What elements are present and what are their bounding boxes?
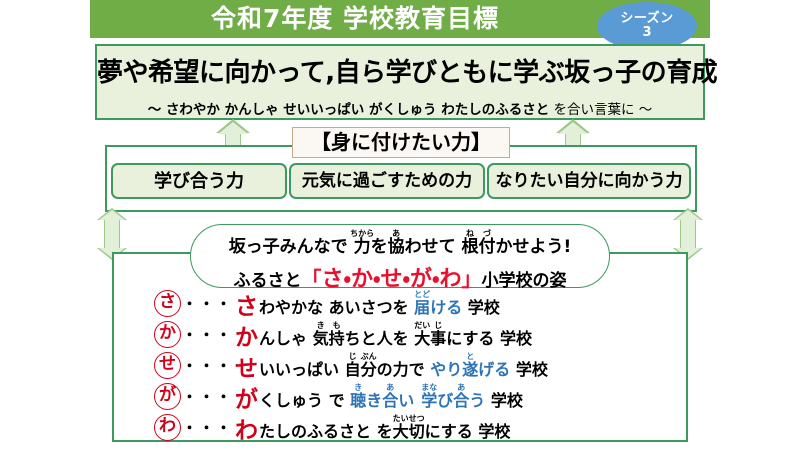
ruby-mana: 学まな	[421, 391, 437, 410]
page-title: 令和7年度 学校教育目標	[90, 2, 620, 38]
ruby-ai2: 合あ	[453, 391, 469, 410]
acronym-circle-ka: か	[154, 321, 181, 348]
slogan-l1-b: を	[371, 237, 388, 257]
ruby-dai: 大だい	[414, 329, 430, 348]
slogan-l1-c: わせて	[405, 237, 462, 257]
skills-chip-row: 学び合う力 元気に過ごすための力 なりたい自分に向かう力	[105, 163, 697, 199]
ruby-kiki: 聴き	[350, 391, 366, 410]
acronym-dots-sa: ・・・	[182, 293, 233, 314]
ruby-ai1: 合あ	[382, 391, 398, 410]
acronym-row-sa: さ ・・・ さ わやかな あいさつを 届とどける 学校	[120, 288, 680, 319]
acronym-list: さ ・・・ さ わやかな あいさつを 届とどける 学校 か ・・・ か んしゃ …	[120, 288, 680, 443]
slogan-l1-e: かせよう!	[496, 237, 572, 257]
skill-chip-stay-healthy: 元気に過ごすための力	[289, 163, 485, 199]
acronym-dots-ga: ・・・	[182, 386, 233, 407]
acronym-dots-wa: ・・・	[182, 417, 233, 438]
acronym-row-wa: わ ・・・ わ たしのふるさと を大切たいせつにする 学校	[120, 412, 680, 443]
season-badge-number: 3	[642, 26, 651, 40]
slogan-ruby-ne: 根ね	[462, 237, 479, 257]
acronym-initial-se: せ	[235, 349, 258, 383]
skills-panel-label: 【身に付けたい力】	[292, 127, 510, 158]
school-goal-sub-text: 〜 さわやか かんしゃ せいいっぱい がくしゅう わたしのふるさと を合い言葉に…	[97, 98, 703, 118]
acronym-text-wa: たしのふるさと を大切たいせつにする 学校	[259, 414, 510, 442]
acronym-text-sa: わやかな あいさつを 届とどける 学校	[259, 290, 500, 318]
school-goal-box: 夢や希望に向かって,自ら学びともに学ぶ坂っ子の育成 〜 さわやか かんしゃ せい…	[95, 44, 705, 120]
acronym-row-ga: が ・・・ が くしゅう で 聴きき合あい学まなび合あう 学校	[120, 381, 680, 412]
acronym-circle-ga: が	[154, 383, 181, 410]
acronym-row-ka: か ・・・ か んしゃ 気き持もちと人を 大だい事じにする 学校	[120, 319, 680, 350]
ruby-ki: 気き	[313, 329, 329, 348]
skill-chip-become-self: なりたい自分に向かう力	[487, 163, 691, 199]
ruby-taisetsu: 大切たいせつ	[393, 422, 425, 441]
acronym-initial-sa: さ	[235, 287, 258, 321]
season-badge: シーズン 3	[597, 2, 697, 50]
acronym-initial-wa: わ	[235, 411, 258, 445]
acronym-dots-se: ・・・	[182, 355, 233, 376]
slogan-bubble: 坂っ子みんなで 力ちからを協あわせて 根ね付づかせよう! ふるさと「さ・か・せ・…	[190, 224, 610, 288]
slogan-ruby-awa: 協あ	[388, 237, 405, 257]
acronym-text-se: いいっぱい 自じ分ぶんの力で やり遂とげる 学校	[259, 352, 548, 380]
ruby-togeru: 遂と	[462, 360, 478, 379]
acronym-dots-ka: ・・・	[182, 324, 233, 345]
acronym-circle-se: せ	[154, 352, 181, 379]
ruby-ji: 事じ	[430, 329, 446, 348]
slogan-line-1: 坂っ子みんなで 力ちからを協あわせて 根ね付づかせよう!	[191, 229, 609, 257]
acronym-circle-sa: さ	[154, 290, 181, 317]
goal-sub-prefix: 〜	[148, 102, 166, 118]
ruby-ji2: 自じ	[345, 360, 361, 379]
acronym-row-se: せ ・・・ せ いいっぱい 自じ分ぶんの力で やり遂とげる 学校	[120, 350, 680, 381]
goal-sub-suffix: を合い言葉に 〜	[549, 102, 652, 118]
skill-chip-learn-together: 学び合う力	[111, 163, 287, 199]
slogan-ruby-chikara: 力ちから	[354, 237, 371, 257]
acronym-circle-wa: わ	[154, 414, 181, 441]
slogan-l1-a: 坂っ子みんなで	[229, 237, 354, 257]
ruby-todoke: 届とど	[414, 298, 430, 317]
ruby-bun: 分ぶん	[361, 360, 377, 379]
school-goal-main-text: 夢や希望に向かって,自ら学びともに学ぶ坂っ子の育成	[97, 52, 703, 89]
acronym-text-ka: んしゃ 気き持もちと人を 大だい事じにする 学校	[259, 321, 532, 349]
slide-root: 令和7年度 学校教育目標 シーズン 3 夢や希望に向かって,自ら学びともに学ぶ坂…	[0, 0, 800, 450]
acronym-initial-ka: か	[235, 318, 258, 352]
season-badge-label: シーズン	[620, 12, 673, 26]
acronym-initial-ga: が	[235, 380, 258, 414]
goal-sub-keywords: さわやか かんしゃ せいいっぱい がくしゅう わたしのふるさと	[166, 102, 549, 118]
acronym-text-ga: くしゅう で 聴きき合あい学まなび合あう 学校	[259, 383, 523, 411]
ruby-mo: 持も	[329, 329, 345, 348]
slogan-ruby-duku: 付づ	[479, 237, 496, 257]
